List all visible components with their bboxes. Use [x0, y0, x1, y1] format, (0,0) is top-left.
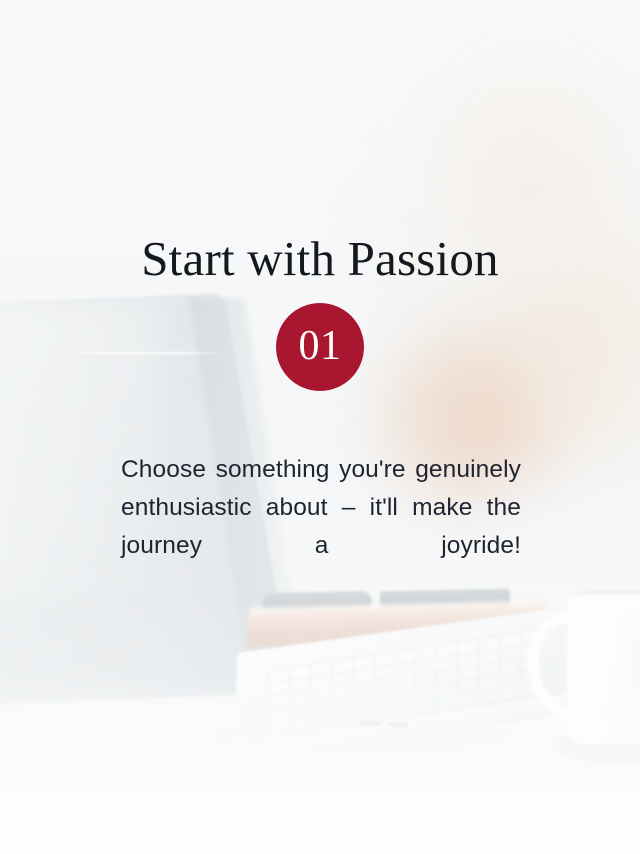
slide-canvas: Start with Passion 01 Choose something y…	[0, 0, 640, 854]
slide-content: Start with Passion 01 Choose something y…	[0, 0, 640, 854]
step-number-badge: 01	[276, 303, 364, 391]
body-paragraph: Choose something you're genuinely enthus…	[121, 451, 521, 603]
step-number-label: 01	[299, 325, 342, 367]
page-title: Start with Passion	[0, 233, 640, 286]
